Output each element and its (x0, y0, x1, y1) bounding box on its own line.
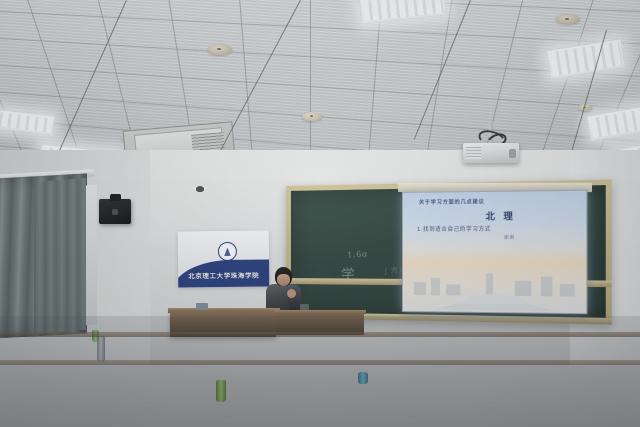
window-curtain-fold[interactable] (34, 178, 86, 335)
slide-building (414, 282, 426, 296)
projector-lens-icon (509, 149, 516, 158)
slide-building (541, 276, 552, 296)
slide-building (515, 281, 532, 297)
student-audience (0, 316, 640, 427)
smoke-detector (302, 112, 322, 121)
smoke-detector (556, 14, 580, 24)
ceiling-projector (463, 143, 519, 163)
seat-row-desk (0, 332, 640, 337)
desk-object (196, 303, 208, 310)
slide-building (560, 284, 575, 297)
chalk-text-1: 1.6α (347, 248, 368, 259)
presenter-face (277, 274, 290, 286)
presenter-hand (287, 289, 296, 298)
slide-building (446, 284, 460, 296)
university-seal-icon (218, 242, 237, 261)
projection-screen: 关于学习方面的几点建议 北 理 1.找到适合自己的学习方式 谢谢 (402, 190, 587, 315)
slide-subnote: 谢谢 (504, 235, 515, 241)
slide-building (431, 278, 440, 296)
desk-object (300, 304, 309, 310)
slide-bullet: 1.找到适合自己的学习方式 (417, 224, 491, 232)
slide-skyline (403, 259, 586, 313)
wall-sensor-icon (196, 186, 204, 192)
window-gap (86, 185, 97, 326)
slide-building (486, 273, 493, 296)
banner-organization-text: 北京理工大学珠海学院 (178, 270, 269, 281)
slide-plaza (414, 303, 575, 312)
seat-row-desk (0, 360, 640, 365)
slide-title: 北 理 (486, 209, 516, 222)
smoke-detector (208, 44, 232, 55)
wall-speaker (99, 199, 131, 224)
event-banner: 北京理工大学珠海学院 (178, 231, 270, 288)
lecture-hall-photo: 北京理工大学珠海学院 1.6α 学 ∫ 方法 关于学习方面的几点建议 北 理 1… (0, 0, 640, 427)
slide-heading: 关于学习方面的几点建议 (419, 198, 485, 206)
